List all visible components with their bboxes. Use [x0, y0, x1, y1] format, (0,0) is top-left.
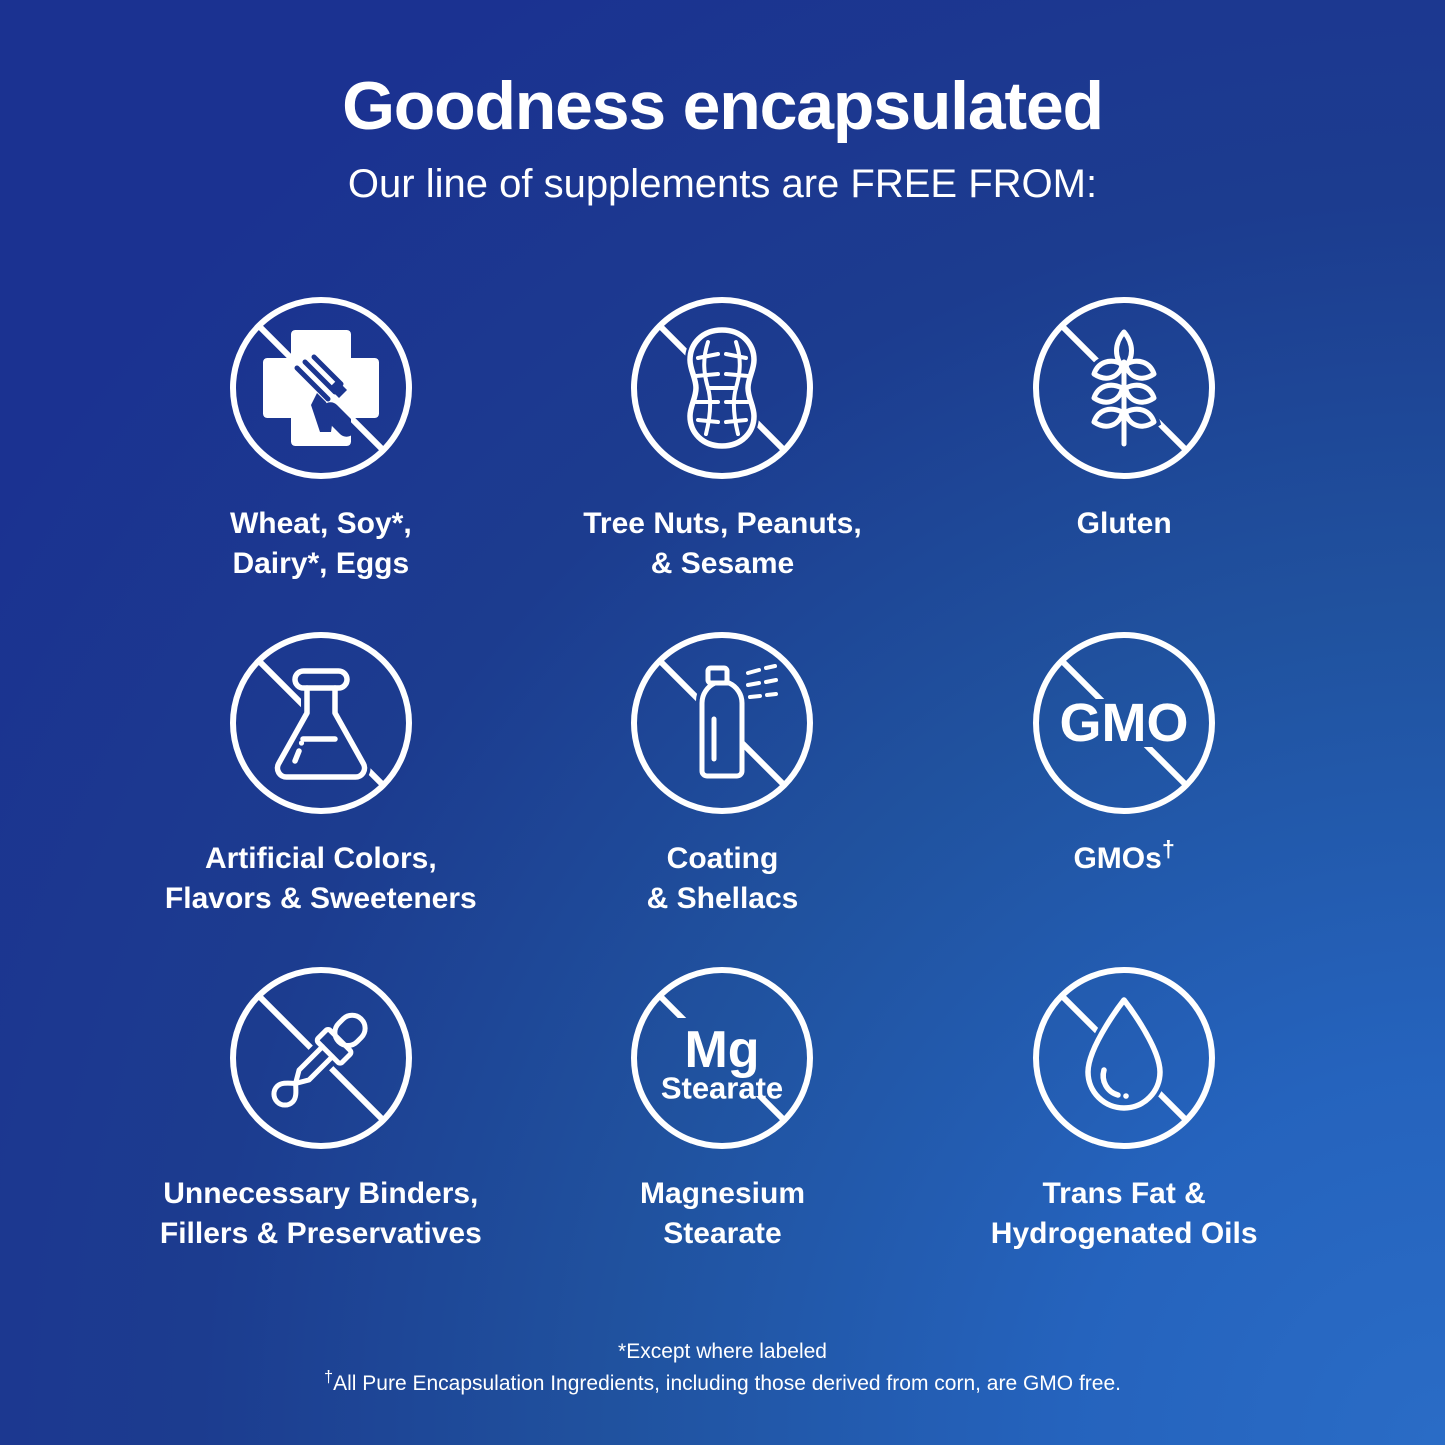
- dagger-marker: †: [324, 1368, 333, 1386]
- no-wheat-stalk-icon: [1028, 292, 1220, 484]
- free-from-item-nuts: Tree Nuts, Peanuts, & Sesame: [522, 292, 924, 627]
- free-from-label: Trans Fat & Hydrogenated Oils: [991, 1174, 1258, 1253]
- footnote-dagger: †All Pure Encapsulation Ingredients, inc…: [0, 1368, 1445, 1401]
- no-magnesium-stearate-icon: Mg Stearate: [626, 962, 818, 1154]
- page-title: Goodness encapsulated: [0, 72, 1445, 140]
- no-spray-can-icon: [626, 627, 818, 819]
- free-from-item-coating: Coating & Shellacs: [522, 627, 924, 962]
- footnote-dagger-text: All Pure Encapsulation Ingredients, incl…: [333, 1372, 1121, 1395]
- no-gmo-icon: GMO: [1028, 627, 1220, 819]
- footnote-asterisk: *Except where labeled: [0, 1336, 1445, 1369]
- no-peanut-icon: [626, 292, 818, 484]
- free-from-label: Wheat, Soy*, Dairy*, Eggs: [230, 504, 412, 583]
- dagger-superscript: †: [1162, 836, 1175, 862]
- gmo-icon-text: GMO: [1060, 693, 1189, 753]
- no-dropper-icon: [225, 962, 417, 1154]
- no-oil-droplet-icon: [1028, 962, 1220, 1154]
- promo-graphic: Goodness encapsulated Our line of supple…: [0, 0, 1445, 1445]
- free-from-label: Magnesium Stearate: [640, 1174, 805, 1253]
- free-from-grid: Wheat, Soy*, Dairy*, Eggs: [120, 292, 1325, 1297]
- free-from-label: Unnecessary Binders, Fillers & Preservat…: [160, 1174, 482, 1253]
- free-from-label: Gluten: [1077, 504, 1172, 544]
- header: Goodness encapsulated Our line of supple…: [0, 72, 1445, 204]
- free-from-label: Artificial Colors, Flavors & Sweeteners: [165, 839, 477, 918]
- free-from-label: Tree Nuts, Peanuts, & Sesame: [583, 504, 861, 583]
- free-from-label: Coating & Shellacs: [647, 839, 799, 918]
- free-from-item-allergens: Wheat, Soy*, Dairy*, Eggs: [120, 292, 522, 627]
- no-flask-icon: [225, 627, 417, 819]
- stearate-icon-text: Stearate: [661, 1071, 783, 1106]
- free-from-label: GMOs†: [1073, 839, 1174, 879]
- free-from-label-text: GMOs: [1073, 842, 1161, 875]
- free-from-item-gluten: Gluten: [923, 292, 1325, 627]
- footnotes: *Except where labeled †All Pure Encapsul…: [0, 1336, 1445, 1401]
- no-allergen-cross-fork-icon: [225, 292, 417, 484]
- free-from-item-trans-fat: Trans Fat & Hydrogenated Oils: [923, 962, 1325, 1297]
- free-from-item-magnesium-stearate: Mg Stearate Magnesium Stearate: [522, 962, 924, 1297]
- free-from-item-artificial-colors: Artificial Colors, Flavors & Sweeteners: [120, 627, 522, 962]
- free-from-item-binders: Unnecessary Binders, Fillers & Preservat…: [120, 962, 522, 1297]
- page-subtitle: Our line of supplements are FREE FROM:: [0, 164, 1445, 204]
- free-from-item-gmo: GMO GMOs†: [923, 627, 1325, 962]
